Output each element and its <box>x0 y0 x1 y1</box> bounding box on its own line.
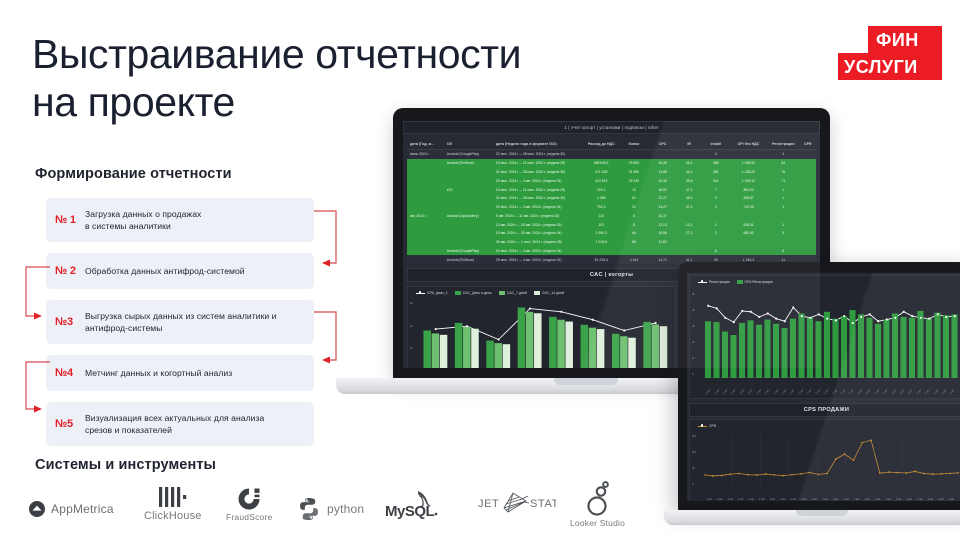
table-cell: 27,1 <box>677 229 702 238</box>
table-cell: 12,13 <box>648 220 677 229</box>
axis-tick-label: 1 окт <box>764 389 770 395</box>
step-number-5: №5 <box>55 418 85 430</box>
table-cell <box>800 168 816 177</box>
registrations-chart-legend: Регистрации CPA Регистрации <box>690 276 960 284</box>
axis-tick-label: 1 окт <box>806 389 812 395</box>
table-row[interactable]: 22 июл. 2024 г. – 28 июл. 2024 г. (недел… <box>407 168 816 177</box>
tool-label-looker-studio: Looker Studio <box>570 518 625 528</box>
table-cell: 29 июл. 2024 г. – 4 авг. 2024 г. (неделя… <box>493 255 583 264</box>
cac-chart-left-legend: CPA_факт_1 CAC_День в день CAC_7 дней CA… <box>408 287 675 295</box>
table-cell: 123 <box>583 211 620 220</box>
table-col-header: CPI без НДС <box>730 139 767 150</box>
python-icon <box>296 496 322 522</box>
table-cell: Android (GooglePlay) <box>444 150 493 159</box>
table-cell: 8 <box>620 220 649 229</box>
step-text-1: Загрузка данных о продажах в системы ана… <box>85 208 201 233</box>
axis-tick-label: 1 окт <box>896 498 902 501</box>
legend-cac-day: CAC_День в день <box>455 291 492 295</box>
table-cell: 1 265,93 <box>730 159 767 168</box>
laptop-left-notch <box>554 378 618 385</box>
table-cell: 408,87 <box>730 194 767 203</box>
axis-tick-label: 1 окт <box>738 498 744 501</box>
axis-tick-label: 1 окт <box>822 498 828 501</box>
table-cell: 488 649,1 <box>583 159 620 168</box>
table-cell: 25 120 <box>620 176 649 185</box>
table-cell: 752,3 <box>583 203 620 212</box>
cps-chart-yaxis: 15к 10к 5к 0 <box>692 434 696 486</box>
cps-chart-plot <box>704 434 959 486</box>
table-col-header: IR <box>677 139 702 150</box>
table-col-header: Клики <box>620 139 649 150</box>
axis-tick-label: 1 окт <box>756 389 762 395</box>
table-cell: 15 июл. 2024 г. – 21 июл. 2024 г. (недел… <box>493 159 583 168</box>
table-cell: 7 <box>701 185 730 194</box>
table-cell: 16,35 <box>648 159 677 168</box>
table-cell <box>407 194 444 203</box>
table-row[interactable]: 22 июл. 2024 г. – 28 июл. 2024 г. (недел… <box>407 194 816 203</box>
table-cell <box>800 185 816 194</box>
table-cell <box>800 203 816 212</box>
svg-text:JET: JET <box>478 498 499 510</box>
table-cell <box>407 176 444 185</box>
table-cell: 22,27 <box>648 194 677 203</box>
table-cell: 4 <box>701 203 730 212</box>
table-cell <box>800 229 816 238</box>
axis-tick-label: 1 окт <box>781 389 787 395</box>
svg-text:MySQL: MySQL <box>385 503 435 520</box>
step-text-4: Метчинг данных и когортный анализ <box>85 367 232 380</box>
axis-tick-label: 1 окт <box>854 498 860 501</box>
laptop-right-screen: Регистрации CPA Регистрации 5к 4к 3к 2к … <box>687 273 960 501</box>
table-cell: 18,51 <box>648 185 677 194</box>
table-cell <box>800 176 816 185</box>
cac-chart-left-plot <box>420 301 671 368</box>
table-cell: 4 <box>767 150 800 159</box>
table-cell: 39,6 <box>677 176 702 185</box>
table-cell <box>767 238 800 247</box>
table-cell: 1 358 <box>583 194 620 203</box>
logo-text-fin: ФИН <box>876 31 919 49</box>
table-cell <box>583 247 620 256</box>
table-cell: 381 <box>701 168 730 177</box>
table-cell <box>620 247 649 256</box>
cac-chart-left[interactable]: CPA_факт_1 CAC_День в день CAC_7 дней CA… <box>407 286 676 368</box>
step-text-5: Визуализация всех актуальных для анализа… <box>85 412 264 437</box>
axis-tick-label: 1 окт <box>707 498 713 501</box>
axis-tick-label: 1 окт <box>730 389 736 395</box>
looker-studio-icon <box>581 480 615 518</box>
table-cell: 222,1 <box>583 185 620 194</box>
axis-tick-label: 1 окт <box>899 389 905 395</box>
axis-tick-label: 1 окт <box>917 498 923 501</box>
step-number-1: № 1 <box>55 214 85 226</box>
table-cell <box>444 194 493 203</box>
table-cell: 1 <box>767 203 800 212</box>
table-cell <box>800 211 816 220</box>
step-card-4[interactable]: №4 Метчинг данных и когортный анализ <box>46 355 314 391</box>
axis-tick-label: 1 окт <box>714 389 720 395</box>
table-row[interactable]: Android (GooglePlay)29 июл. 2024 г. – 4 … <box>407 247 816 256</box>
axis-tick-label: 1 окт <box>933 389 939 395</box>
table-cell <box>701 238 730 247</box>
table-cell: 15 июл. 2024 г. – 21 июл. 2024 г. (недел… <box>493 185 583 194</box>
brand-logo: ФИН УСЛУГИ <box>838 26 942 80</box>
step-card-3[interactable]: №3 Выгрузка сырых данных из систем анали… <box>46 300 314 344</box>
axis-tick-label: 1 окт <box>886 498 892 501</box>
table-cell: 31 <box>620 203 649 212</box>
table-cell: 1 <box>767 185 800 194</box>
cps-chart-xaxis: 1 окт1 окт1 окт1 окт1 окт1 окт1 окт1 окт… <box>690 497 960 501</box>
table-cell: 386 <box>701 159 730 168</box>
table-cell: 29 июл. 2024 г. – 4 авг. 2024 г. (неделя… <box>493 203 583 212</box>
table-col-header: CPR <box>800 139 816 150</box>
axis-tick-label: 1 окт <box>705 389 711 395</box>
table-col-header: Регистрация <box>767 139 800 150</box>
table-cell: Android (GooglePlay) <box>444 247 493 256</box>
axis-tick-label: 1 окт <box>875 498 881 501</box>
table-col-header: ОS <box>444 139 493 150</box>
table-cell <box>444 229 493 238</box>
table-cell: 22 июл. 2024 г. – 28 июл. 2024 г. (недел… <box>493 168 583 177</box>
table-cell: 384,02 <box>730 185 767 194</box>
table-cell: 6 <box>767 247 800 256</box>
table-cell <box>730 150 767 159</box>
axis-tick-label: 1 окт <box>832 389 838 395</box>
table-cell: 22 июл. 2024 г. – 28 июл. 2024 г. (недел… <box>493 150 583 159</box>
tool-label-python: python <box>327 502 364 516</box>
table-col-header: дата (Неделя года в формате ISO) <box>493 139 583 150</box>
axis-tick-label: 1 окт <box>928 498 934 501</box>
axis-tick-label: 1 окт <box>941 389 947 395</box>
cps-chart[interactable]: CPS 15к 10к 5к 0 1 окт1 окт1 окт1 окт1 о… <box>689 419 960 501</box>
table-cell: 438,01 <box>730 220 767 229</box>
table-cell <box>407 247 444 256</box>
axis-tick-label: 1 окт <box>949 498 955 501</box>
table-cell <box>730 211 767 220</box>
table-cell: 1 <box>701 220 730 229</box>
table-cell <box>407 185 444 194</box>
table-header-row: дата (Год, м…ОSдата (Неделя года в форма… <box>407 139 816 150</box>
step-card-2[interactable]: № 2 Обработка данных антифрод-системой <box>46 253 314 289</box>
table-cell: 4 <box>701 150 730 159</box>
table-cell: 1 209,12 <box>730 176 767 185</box>
table-cell <box>800 150 816 159</box>
table-cell: 6 <box>701 247 730 256</box>
axis-tick-label: 1 окт <box>739 389 745 395</box>
axis-tick-label: 1 окт <box>823 389 829 395</box>
table-cell: iOS <box>444 185 493 194</box>
axis-tick-label: 1 окт <box>843 498 849 501</box>
table-cell: 12 <box>620 185 649 194</box>
table-cell: 413 519 <box>583 176 620 185</box>
table-cell: 24,27 <box>648 203 677 212</box>
table-cell: Android (AppGallery) <box>444 211 493 220</box>
table-row[interactable]: 29 июл. 2024 г. – 4 авг. 2024 г. (неделя… <box>407 176 816 185</box>
table-cell: 1 236,29 <box>730 168 767 177</box>
table-cell <box>407 255 444 264</box>
table-row[interactable]: 29 июл. 2024 г. – 4 авг. 2024 г. (неделя… <box>407 203 816 212</box>
table-cell <box>444 238 493 247</box>
table-cell: 12 авг. 2024 г. – 18 авг. 2024 г. (недел… <box>493 220 583 229</box>
axis-tick-label: 1 окт <box>773 389 779 395</box>
legend-registrations: Регистрации <box>698 280 730 284</box>
logo-text-uslugi: УСЛУГИ <box>844 58 918 76</box>
dashboard-titlebar: 1 | Учет когорт | установки | подписки |… <box>403 121 820 134</box>
table-row[interactable]: 26 авг. 2024 г. – 1 сент. 2024 г. (недел… <box>407 238 816 247</box>
table-cell <box>444 220 493 229</box>
table-cell: 5 авг. 2024 г. – 11 авг. 2024 г. (неделя… <box>493 211 583 220</box>
axis-tick-label: 1 окт <box>722 389 728 395</box>
table-row[interactable]: авг. 2024 г.Android (AppGallery)5 авг. 2… <box>407 211 816 220</box>
axis-tick-label: 1 окт <box>864 498 870 501</box>
table-cell: 712,25 <box>730 203 767 212</box>
table-cell: 61 215,4 <box>583 255 620 264</box>
step-number-4: №4 <box>55 367 85 379</box>
table-cell: 480,93 <box>730 229 767 238</box>
axis-tick-label: 1 окт <box>798 389 804 395</box>
table-cell: 37,1 <box>677 203 702 212</box>
axis-tick-label: 1 окт <box>815 389 821 395</box>
table-cell: 82 <box>767 159 800 168</box>
table-cell: 61 <box>620 194 649 203</box>
tool-appmetrica: AppMetrica <box>28 500 114 518</box>
legend-cpa-fact: CPA_факт_1 <box>416 291 448 295</box>
table-cell: 76 <box>767 168 800 177</box>
table-cell: июль 2024 г. <box>407 150 444 159</box>
table-cell <box>800 238 816 247</box>
fraudscore-icon <box>236 486 262 512</box>
table-cell <box>583 150 620 159</box>
table-cell <box>407 159 444 168</box>
table-cell: 3 <box>701 229 730 238</box>
axis-tick-label: 1 окт <box>865 389 871 395</box>
tool-looker-studio: Looker Studio <box>570 480 625 528</box>
step-number-3: №3 <box>55 316 85 328</box>
axis-tick-label: 1 окт <box>780 498 786 501</box>
table-cell: Android (RuStore) <box>444 159 493 168</box>
dashboard-table-wrap: дата (Год, м…ОSдата (Неделя года в форма… <box>403 139 820 264</box>
axis-tick-label: 1 окт <box>938 498 944 501</box>
registrations-chart-plot <box>704 292 959 378</box>
table-row[interactable]: iOS15 июл. 2024 г. – 21 июл. 2024 г. (не… <box>407 185 816 194</box>
table-cell <box>677 150 702 159</box>
table-cell: 4 161 <box>620 255 649 264</box>
laptop-right-lid: Регистрации CPA Регистрации 5к 4к 3к 2к … <box>678 262 960 512</box>
tool-clickhouse: ClickHouse <box>144 486 202 522</box>
table-cell: 342 <box>701 176 730 185</box>
table-cell: 46,1 <box>677 159 702 168</box>
tool-label-clickhouse: ClickHouse <box>144 510 202 522</box>
table-cell <box>407 229 444 238</box>
step-text-2: Обработка данных антифрод-системой <box>85 265 245 278</box>
step-text-3: Выгрузка сырых данных из систем аналитик… <box>85 310 277 335</box>
table-cell <box>800 247 816 256</box>
axis-tick-label: 1 окт <box>791 498 797 501</box>
table-body: июль 2024 г.Android (GooglePlay)22 июл. … <box>407 150 816 265</box>
table-cell: 16,46 <box>648 176 677 185</box>
steps-list: № 1 Загрузка данных о продажах в системы… <box>46 198 314 457</box>
section-heading-forming: Формирование отчетности <box>35 166 232 182</box>
tool-jetstat: JET STAT <box>478 490 556 516</box>
table-cell: 11,84 <box>648 238 677 247</box>
axis-tick-label: 1 окт <box>924 389 930 395</box>
tool-label-fraudscore: FraudScore <box>226 512 272 522</box>
axis-tick-label: 1 окт <box>801 498 807 501</box>
axis-tick-label: 1 окт <box>717 498 723 501</box>
legend-cac-14: CAC_14 дней <box>534 291 564 295</box>
svg-text:STAT: STAT <box>530 498 556 510</box>
axis-tick-label: 1 окт <box>848 389 854 395</box>
table-cell: Android (RuStore) <box>444 255 493 264</box>
table-cell <box>767 211 800 220</box>
laptop-right-notch <box>796 510 848 516</box>
axis-tick-label: 1 окт <box>812 498 818 501</box>
table-cell: 31 680 <box>620 168 649 177</box>
table-cell: 71 <box>767 176 800 185</box>
axis-tick-label: 1 окт <box>747 389 753 395</box>
table-cell: 1 <box>767 220 800 229</box>
table-cell <box>730 238 767 247</box>
legend-cpa-registrations: CPA Регистрации <box>737 280 773 284</box>
table-cell: 29 июл. 2024 г. – 4 авг. 2024 г. (неделя… <box>493 176 583 185</box>
table-col-header: Install <box>701 139 730 150</box>
axis-tick-label: 1 окт <box>916 389 922 395</box>
table-cell <box>730 247 767 256</box>
axis-tick-label: 1 окт <box>759 498 765 501</box>
table-cell <box>407 203 444 212</box>
step-card-5[interactable]: №5 Визуализация всех актуальных для анал… <box>46 402 314 446</box>
table-cell <box>677 238 702 247</box>
table-cell: 44,1 <box>677 168 702 177</box>
table-cell: 15,37 <box>648 211 677 220</box>
legend-cac-7: CAC_7 дней <box>499 291 527 295</box>
table-cell <box>701 211 730 220</box>
cohort-table: дата (Год, м…ОSдата (Неделя года в форма… <box>407 139 816 264</box>
legend-cps: CPS <box>698 424 716 428</box>
table-cell: 9 <box>701 194 730 203</box>
tool-mysql: MySQL <box>384 488 446 522</box>
table-cell <box>800 159 816 168</box>
table-cell: 19 авг. 2024 г. – 25 авг. 2024 г. (недел… <box>493 229 583 238</box>
table-col-header: CPC <box>648 139 677 150</box>
axis-tick-label: 1 окт <box>833 498 839 501</box>
table-cell <box>407 220 444 229</box>
table-row[interactable]: 12 авг. 2024 г. – 18 авг. 2024 г. (недел… <box>407 220 816 229</box>
table-cell <box>677 211 702 220</box>
mysql-icon: MySQL <box>384 488 446 522</box>
cac-chart-left-yaxis: 3к 2к 1к 0 <box>410 301 413 368</box>
axis-tick-label: 1 окт <box>874 389 880 395</box>
step-card-1[interactable]: № 1 Загрузка данных о продажах в системы… <box>46 198 314 242</box>
axis-tick-label: 1 окт <box>891 389 897 395</box>
table-cell: авг. 2024 г. <box>407 211 444 220</box>
tool-python: python <box>296 496 364 522</box>
table-cell <box>444 168 493 177</box>
table-cell <box>677 247 702 256</box>
tool-fraudscore: FraudScore <box>226 486 272 522</box>
axis-tick-label: 1 окт <box>789 389 795 395</box>
table-col-header: дата (Год, м… <box>407 139 444 150</box>
table-cell <box>444 176 493 185</box>
axis-tick-label: 1 окт <box>882 389 888 395</box>
section-heading-systems: Системы и инструменты <box>35 457 216 473</box>
table-cell <box>648 150 677 159</box>
table-cell: 16,56 <box>648 229 677 238</box>
axis-tick-label: 1 окт <box>840 389 846 395</box>
registrations-chart-yaxis: 5к 4к 3к 2к 1к 0 <box>692 292 695 376</box>
axis-tick-label: 1 окт <box>857 389 863 395</box>
table-cell: 14,86 <box>648 168 677 177</box>
table-cell <box>620 150 649 159</box>
table-cell <box>800 220 816 229</box>
table-cell: 22 июл. 2024 г. – 28 июл. 2024 г. (недел… <box>493 194 583 203</box>
clickhouse-icon <box>156 486 190 510</box>
table-row[interactable]: июль 2024 г.Android (GooglePlay)22 июл. … <box>407 150 816 159</box>
table-row[interactable]: Android (RuStore)15 июл. 2024 г. – 21 ию… <box>407 159 816 168</box>
table-cell: 26 авг. 2024 г. – 1 сент. 2024 г. (недел… <box>493 238 583 247</box>
cps-chart-legend: CPS <box>690 420 960 428</box>
registrations-chart[interactable]: Регистрации CPA Регистрации 5к 4к 3к 2к … <box>689 275 960 399</box>
table-cell <box>444 203 493 212</box>
axis-tick-label: 1 окт <box>907 389 913 395</box>
table-cell: 1 018,8 <box>583 238 620 247</box>
table-cell <box>800 194 816 203</box>
table-cell <box>407 238 444 247</box>
axis-tick-label: 1 окт <box>949 389 955 395</box>
table-row[interactable]: 19 авг. 2024 г. – 25 авг. 2024 г. (недел… <box>407 229 816 238</box>
registrations-chart-xaxis: 1 окт1 окт1 окт1 окт1 окт1 окт1 окт1 окт… <box>690 392 960 396</box>
laptop-right: Регистрации CPA Регистрации 5к 4к 3к 2к … <box>664 262 960 540</box>
table-cell: 12,1 <box>677 220 702 229</box>
table-cell: 3 <box>767 229 800 238</box>
table-col-header: Расход до НДС <box>583 139 620 150</box>
table-cell: 29 890 <box>620 159 649 168</box>
table-cell: 86 <box>620 238 649 247</box>
cps-panel-title: CPS ПРОДАЖИ <box>689 403 960 417</box>
table-cell: 8 <box>620 211 649 220</box>
axis-tick-label: 1 окт <box>770 498 776 501</box>
axis-tick-label: 1 окт <box>907 498 913 501</box>
table-cell: 1 <box>767 194 800 203</box>
tools-row: AppMetrica ClickHouse FraudScore python <box>28 480 648 532</box>
appmetrica-icon <box>28 500 46 518</box>
jetstat-icon: JET STAT <box>478 490 556 516</box>
table-cell <box>407 168 444 177</box>
table-cell: 47,1 <box>677 185 702 194</box>
table-cell: 64 <box>620 229 649 238</box>
table-cell <box>648 247 677 256</box>
step-number-2: № 2 <box>55 265 85 277</box>
table-cell: 471 028 <box>583 168 620 177</box>
table-cell: 29 июл. 2024 г. – 4 авг. 2024 г. (неделя… <box>493 247 583 256</box>
axis-tick-label: 1 окт <box>749 498 755 501</box>
tool-label-appmetrica: AppMetrica <box>51 502 114 516</box>
table-cell: 1 060,3 <box>583 229 620 238</box>
axis-tick-label: 1 окт <box>728 498 734 501</box>
table-cell: 102 <box>583 220 620 229</box>
table-cell: 48,1 <box>677 194 702 203</box>
